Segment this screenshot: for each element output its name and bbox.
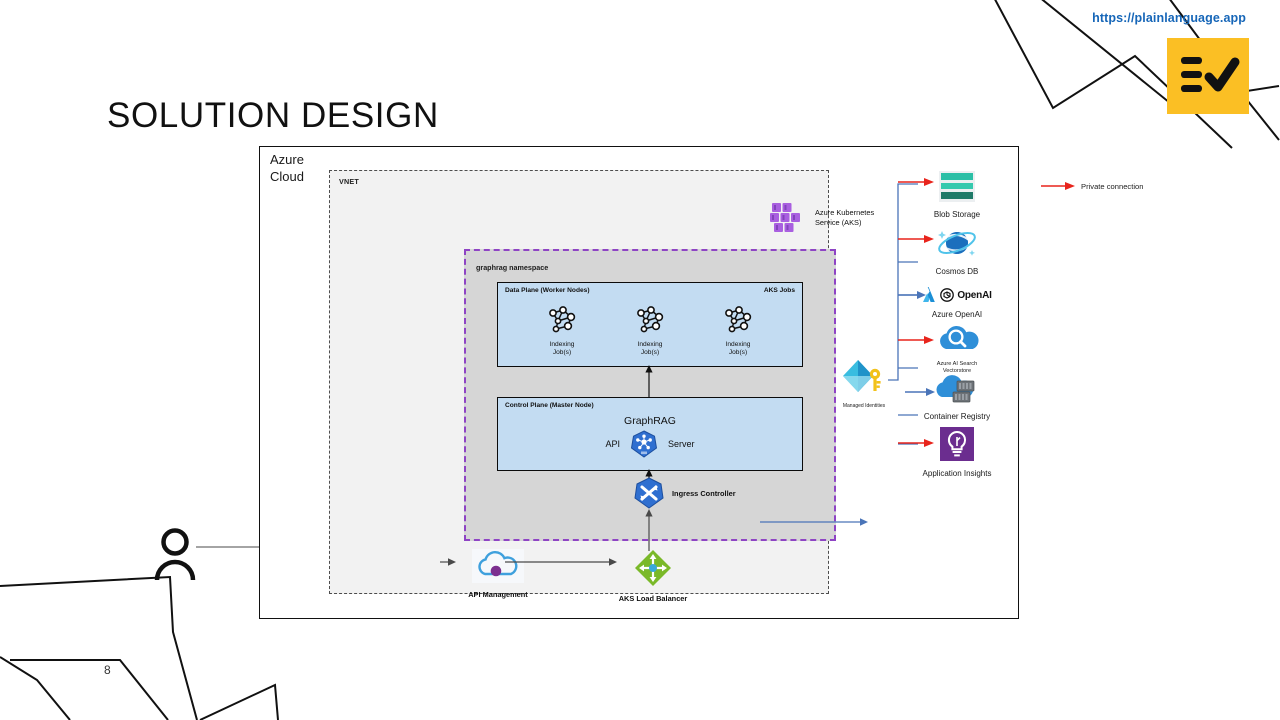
graph-network-icon: [720, 305, 756, 335]
ingress-controller-group: Ingress Controller: [634, 477, 736, 509]
legend-label: Private connection: [1081, 182, 1143, 191]
aks-jobs-badge: AKS Jobs: [764, 287, 795, 294]
indexing-job: Indexing Job(s): [710, 305, 766, 357]
into-apim-arrowhead: [440, 555, 456, 569]
server-word: Server: [668, 439, 695, 449]
aks-label-line2: Service (AKS): [815, 218, 874, 228]
service-cosmos-db: Cosmos DB: [902, 226, 1012, 276]
cosmos-db-icon: [935, 226, 979, 260]
blob-storage-icon: [935, 170, 979, 203]
page-title: SOLUTION DESIGN: [107, 96, 439, 136]
aks-label-line1: Azure Kubernetes: [815, 208, 874, 218]
service-label: Cosmos DB: [902, 267, 1012, 276]
ai-search-icon: [935, 320, 979, 354]
azure-a-icon: [922, 286, 937, 304]
container-registry-icon: [933, 372, 981, 405]
ingress-controller-icon: [634, 477, 664, 509]
ingress-controller-label: Ingress Controller: [672, 489, 736, 498]
azure-openai-logo-row: OpenAI: [902, 282, 1012, 308]
graph-network-icon: [544, 305, 580, 335]
azure-cloud-line1: Azure: [270, 152, 334, 169]
legend-private-connection: Private connection: [1041, 181, 1143, 191]
data-plane-box: Data Plane (Worker Nodes) AKS Jobs: [497, 282, 803, 367]
job-line2: Job(s): [534, 349, 590, 357]
vnet-boundary: VNET Azure Kubernetes: [329, 170, 829, 594]
indexing-job-caption: Indexing Job(s): [534, 341, 590, 357]
service-label: Blob Storage: [902, 210, 1012, 219]
job-line2: Job(s): [710, 349, 766, 357]
service-blob-storage: Blob Storage: [902, 170, 1012, 219]
apim-to-lb-arrow: [505, 555, 617, 569]
openai-wordmark: OpenAI: [957, 290, 991, 301]
graphrag-heading: GraphRAG: [498, 415, 802, 427]
aks-load-balancer-icon: [634, 549, 672, 587]
api-management-label: API Management: [453, 590, 543, 599]
indexing-job: Indexing Job(s): [534, 305, 590, 357]
control-plane-title: Control Plane (Master Node): [505, 402, 594, 409]
aks-service-label: Azure Kubernetes Service (AKS): [815, 208, 874, 228]
graph-network-icon: [632, 305, 668, 335]
api-word: API: [605, 439, 620, 449]
kubernetes-icon: [631, 430, 657, 458]
service-label-line1: Azure AI Search: [902, 361, 1012, 368]
service-container-registry: Container Registry: [902, 372, 1012, 421]
indexing-job-caption: Indexing Job(s): [622, 341, 678, 357]
service-label: Azure OpenAI: [902, 310, 1012, 319]
data-plane-title: Data Plane (Worker Nodes): [505, 287, 590, 294]
application-insights-icon: [938, 426, 976, 462]
namespace-label: graphrag namespace: [476, 263, 548, 272]
slide: https://plainlanguage.app SOLUTION DESIG…: [0, 0, 1280, 720]
aks-cubes-icon: [770, 201, 808, 235]
job-line2: Job(s): [622, 349, 678, 357]
indexing-jobs-row: Indexing Job(s): [498, 305, 802, 357]
indexing-job: Indexing Job(s): [622, 305, 678, 357]
private-connection-arrow-icon: [1041, 181, 1075, 191]
page-number: 8: [104, 663, 111, 677]
lb-to-ingress-arrow: [642, 509, 656, 551]
vnet-label: VNET: [339, 177, 359, 186]
brand-url[interactable]: https://plainlanguage.app: [1092, 11, 1246, 25]
job-line1: Indexing: [622, 341, 678, 349]
azure-cloud-label: Azure Cloud: [270, 152, 334, 185]
job-line1: Indexing: [534, 341, 590, 349]
service-label: Container Registry: [902, 412, 1012, 421]
service-application-insights: Application Insights: [902, 426, 1012, 478]
k8s-api-server-row: API: [498, 430, 802, 458]
aks-service-group: Azure Kubernetes Service (AKS): [770, 201, 874, 235]
azure-cloud-line2: Cloud: [270, 169, 334, 186]
service-label: Application Insights: [902, 469, 1012, 478]
job-line1: Indexing: [710, 341, 766, 349]
aks-load-balancer-label: AKS Load Balancer: [608, 594, 698, 603]
openai-mark-icon: [940, 288, 954, 302]
indexing-job-caption: Indexing Job(s): [710, 341, 766, 357]
aks-load-balancer-node: AKS Load Balancer: [608, 549, 698, 603]
service-azure-openai: OpenAI Azure OpenAI: [902, 282, 1012, 319]
control-to-data-arrow: [642, 365, 656, 398]
control-plane-box: Control Plane (Master Node) GraphRAG API: [497, 397, 803, 471]
namespace-to-managed-identity-arrow: [760, 515, 868, 529]
service-ai-search: Azure AI Search Vectorstore: [902, 320, 1012, 374]
user-person-icon: [152, 528, 198, 582]
brand-logo: [1167, 38, 1249, 114]
checklist-check-icon: [1167, 38, 1249, 114]
